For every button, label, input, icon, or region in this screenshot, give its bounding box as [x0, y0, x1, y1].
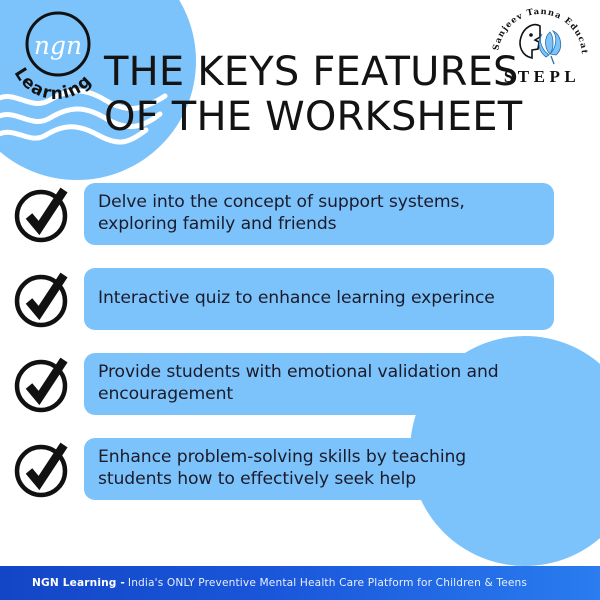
- check-circle-icon: [12, 353, 74, 415]
- feature-box: Delve into the concept of support system…: [84, 183, 554, 245]
- page-title: THE KEYS FEATURES OF THE WORKSHEET: [104, 50, 524, 140]
- feature-text: Interactive quiz to enhance learning exp…: [98, 287, 495, 309]
- learning-curved-text: Learning: [10, 64, 97, 104]
- list-item: Delve into the concept of support system…: [0, 178, 600, 250]
- footer-brand: NGN Learning -: [32, 577, 125, 589]
- feature-box: Enhance problem-solving skills by teachi…: [84, 438, 554, 500]
- list-item: Provide students with emotional validati…: [0, 348, 600, 420]
- lotus-icon: [539, 31, 561, 64]
- check-circle-icon: [12, 183, 74, 245]
- features-list: Delve into the concept of support system…: [0, 178, 600, 518]
- feature-box: Interactive quiz to enhance learning exp…: [84, 268, 554, 330]
- ngn-learning-logo: ngn Learning: [6, 4, 110, 108]
- check-circle-icon: [12, 268, 74, 330]
- footer-bar: NGN Learning -India's ONLY Preventive Me…: [0, 566, 600, 600]
- feature-text: Delve into the concept of support system…: [98, 191, 538, 235]
- list-item: Enhance problem-solving skills by teachi…: [0, 433, 600, 505]
- feature-text: Enhance problem-solving skills by teachi…: [98, 446, 538, 490]
- poster-canvas: ngn Learning Sanjeev Tanna Education: [0, 0, 600, 600]
- footer-text: NGN Learning -India's ONLY Preventive Me…: [0, 577, 527, 589]
- page-title-line-2: OF THE WORKSHEET: [104, 95, 524, 140]
- feature-box: Provide students with emotional validati…: [84, 353, 554, 415]
- footer-tagline: India's ONLY Preventive Mental Health Ca…: [125, 577, 527, 589]
- check-circle-icon: [12, 438, 74, 500]
- ngn-mark-text: ngn: [34, 31, 82, 60]
- feature-text: Provide students with emotional validati…: [98, 361, 538, 405]
- list-item: Interactive quiz to enhance learning exp…: [0, 263, 600, 335]
- page-title-line-1: THE KEYS FEATURES: [104, 50, 524, 95]
